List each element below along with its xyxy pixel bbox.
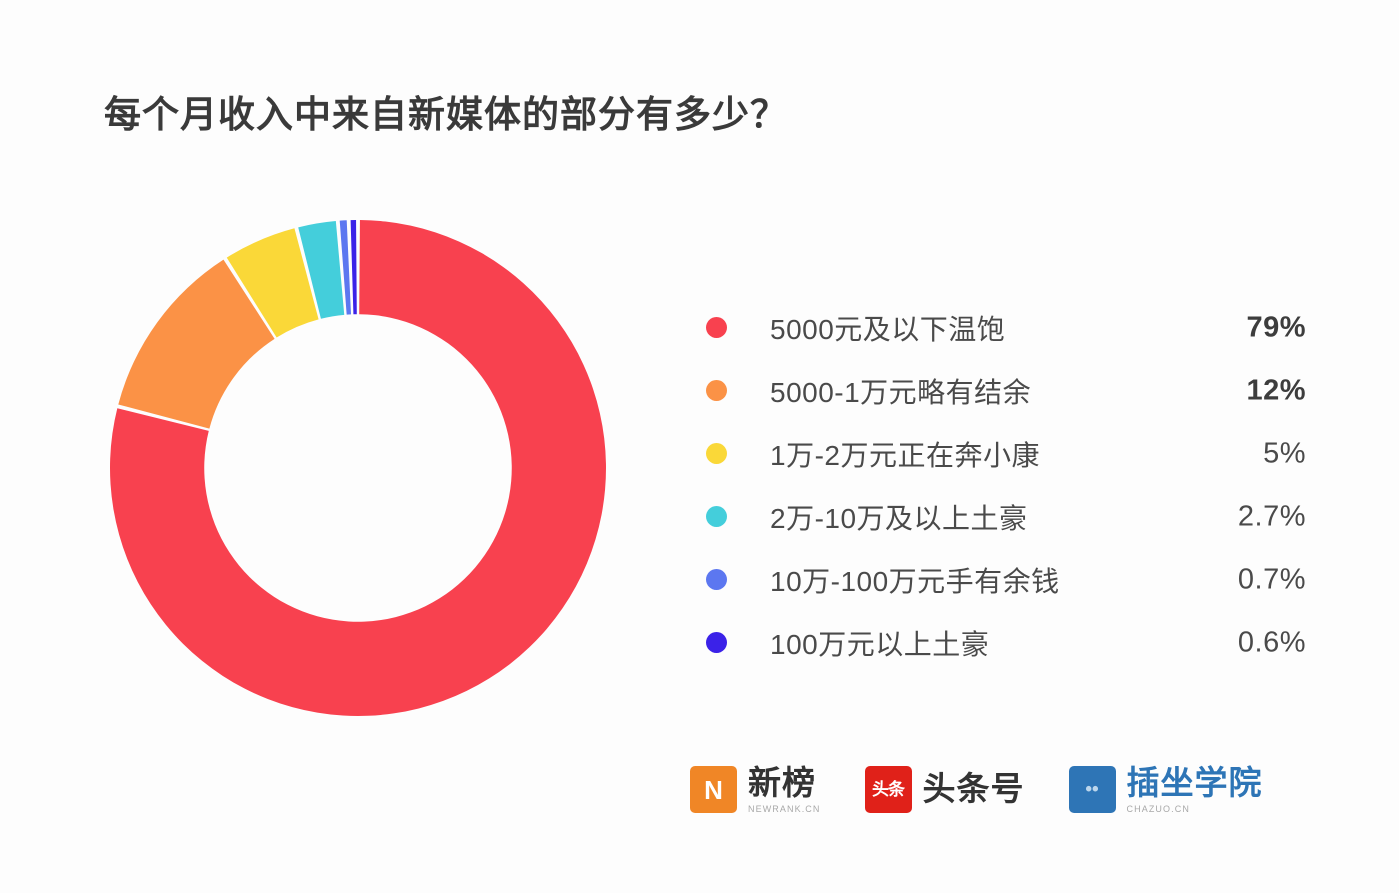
brand-mark-icon: 头条	[865, 766, 912, 813]
brand-name: 新榜	[748, 766, 821, 801]
legend-item[interactable]: 100万元以上土豪0.6%	[706, 611, 1306, 674]
chart-legend: 5000元及以下温饱79%5000-1万元略有结余12%1万-2万元正在奔小康5…	[706, 296, 1306, 674]
legend-item-label: 10万-100万元手有余钱	[770, 560, 1060, 600]
brand-text: 插坐学院CHAZUO.CN	[1127, 766, 1263, 814]
brand-mark-glyph: ••	[1085, 780, 1098, 799]
brand-name: 插坐学院	[1127, 766, 1263, 801]
brand-mark-glyph: 头条	[872, 781, 904, 798]
brand-mark-icon: ••	[1069, 766, 1116, 813]
legend-item-value: 0.6%	[1176, 626, 1306, 659]
page-title: 每个月收入中来自新媒体的部分有多少？	[104, 84, 788, 138]
footer-logo: 头条头条号	[865, 766, 1025, 813]
brand-subtitle: CHAZUO.CN	[1127, 804, 1263, 814]
legend-item[interactable]: 10万-100万元手有余钱0.7%	[706, 548, 1306, 611]
legend-item-value: 0.7%	[1176, 563, 1306, 596]
legend-color-swatch	[706, 380, 727, 401]
legend-item[interactable]: 5000元及以下温饱79%	[706, 296, 1306, 359]
donut-slices	[110, 220, 606, 716]
brand-name: 头条号	[923, 772, 1025, 807]
legend-item[interactable]: 2万-10万及以上土豪2.7%	[706, 485, 1306, 548]
chart-page: 每个月收入中来自新媒体的部分有多少？ 5000元及以下温饱79%5000-1万元…	[0, 0, 1399, 893]
legend-item-label: 5000元及以下温饱	[770, 308, 1005, 348]
footer-logo: N新榜NEWRANK.CN	[690, 766, 821, 814]
brand-mark-glyph: N	[704, 777, 723, 803]
footer-logo-row: N新榜NEWRANK.CN头条头条号••插坐学院CHAZUO.CN	[690, 766, 1263, 814]
legend-item[interactable]: 5000-1万元略有结余12%	[706, 359, 1306, 422]
legend-item-label: 100万元以上土豪	[770, 623, 989, 663]
legend-item-value: 12%	[1176, 374, 1306, 407]
legend-color-swatch	[706, 443, 727, 464]
brand-mark-icon: N	[690, 766, 737, 813]
legend-color-swatch	[706, 632, 727, 653]
legend-item-value: 2.7%	[1176, 500, 1306, 533]
brand-subtitle: NEWRANK.CN	[748, 804, 821, 814]
footer-logo: ••插坐学院CHAZUO.CN	[1069, 766, 1263, 814]
legend-item-label: 2万-10万及以上土豪	[770, 497, 1028, 537]
legend-item[interactable]: 1万-2万元正在奔小康5%	[706, 422, 1306, 485]
donut-svg	[108, 218, 608, 718]
legend-color-swatch	[706, 569, 727, 590]
legend-color-swatch	[706, 506, 727, 527]
legend-item-value: 79%	[1176, 311, 1306, 344]
legend-item-label: 1万-2万元正在奔小康	[770, 434, 1040, 474]
donut-chart	[108, 218, 608, 718]
legend-color-swatch	[706, 317, 727, 338]
legend-item-label: 5000-1万元略有结余	[770, 371, 1031, 411]
donut-slice[interactable]	[351, 220, 357, 314]
brand-text: 新榜NEWRANK.CN	[748, 766, 821, 814]
legend-item-value: 5%	[1176, 437, 1306, 470]
brand-text: 头条号	[923, 772, 1025, 807]
